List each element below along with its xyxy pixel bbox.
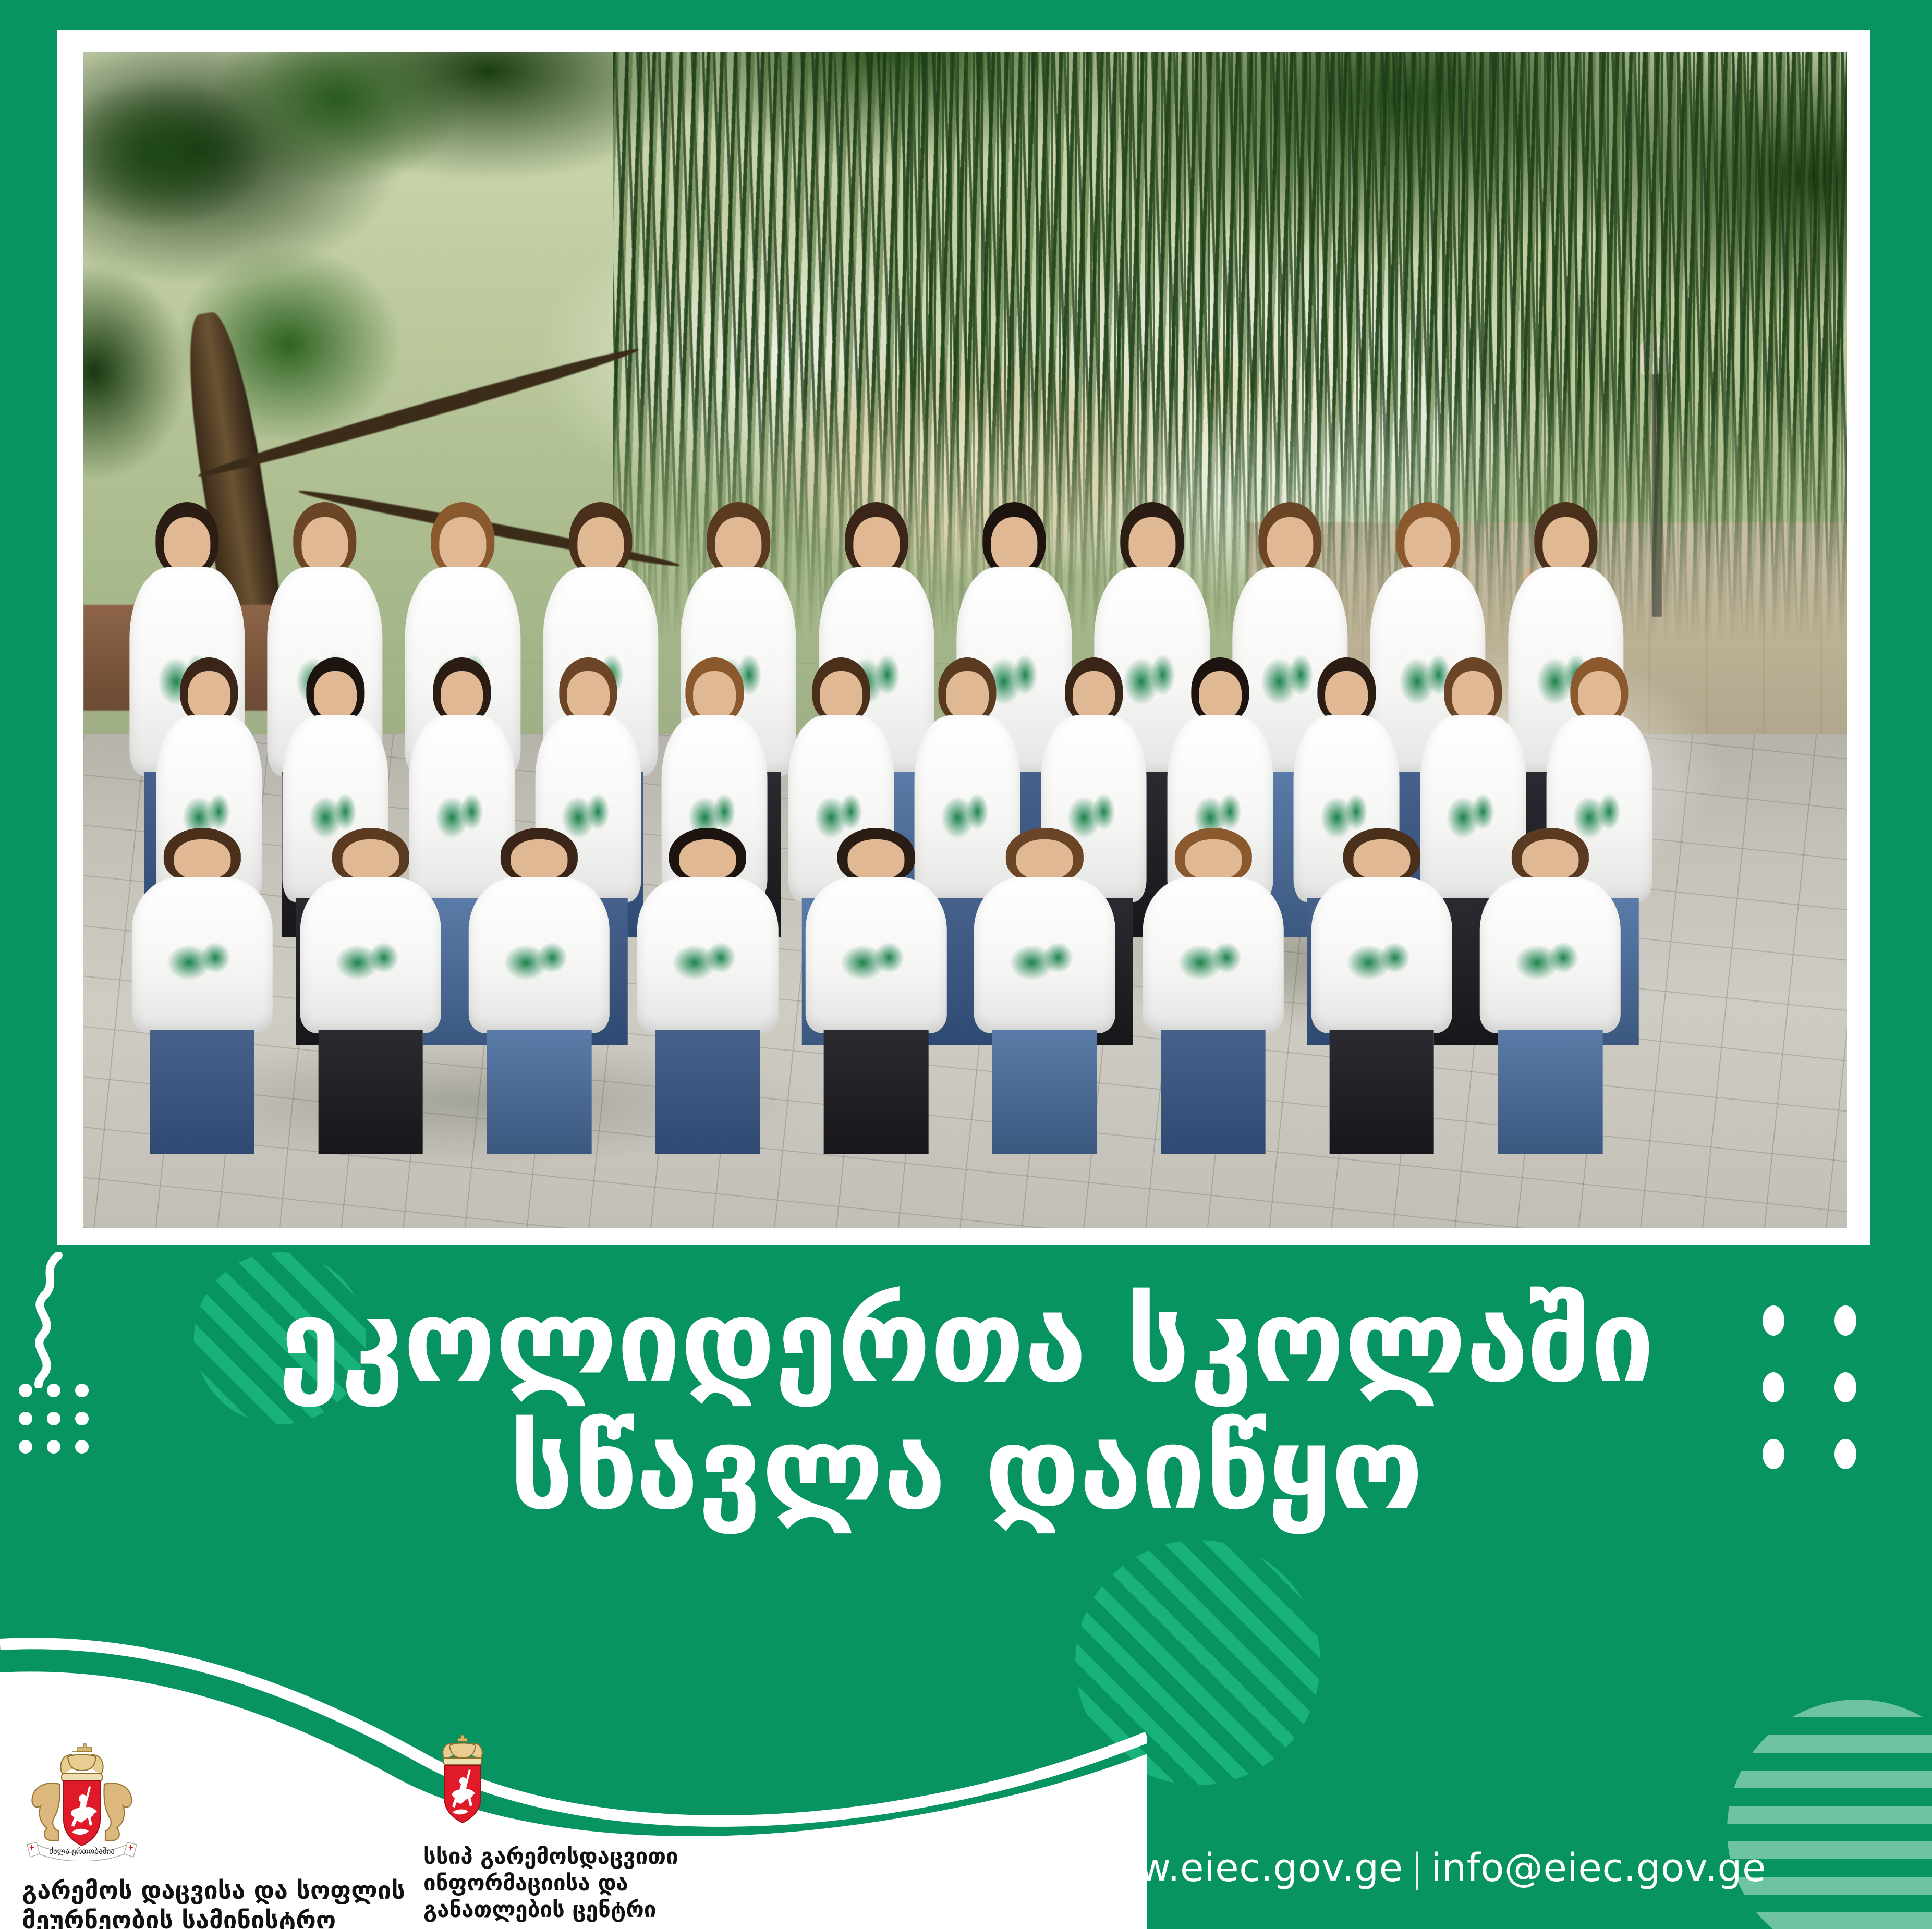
photo-student-head: [694, 671, 736, 719]
photo-student-head: [1073, 671, 1115, 719]
photo-student-head: [441, 671, 483, 719]
photo-frame: [57, 30, 1870, 1245]
photo-student-head: [1129, 517, 1175, 571]
photo-student-head: [1199, 671, 1242, 719]
svg-text:ძალა ერთობაშია: ძალა ერთობაშია: [49, 1847, 115, 1856]
photo-student-legs: [150, 1030, 254, 1154]
photo-student-legs: [655, 1030, 760, 1154]
photo-student-legs: [487, 1030, 592, 1154]
photo-student-tshirt: [1480, 877, 1621, 1033]
email-link[interactable]: info@eiec.gov.ge: [1431, 1846, 1766, 1890]
photo-tshirt-logo: [1341, 930, 1423, 993]
photo-tshirt-logo: [330, 930, 411, 993]
photo-student-head: [848, 839, 905, 880]
photo-student-head: [314, 671, 357, 719]
center-caption: სსიპ გარემოსდაცვითი ინფორმაციისა და განა…: [423, 1843, 678, 1923]
photo-student-tshirt: [300, 877, 441, 1033]
photo-student-head: [511, 839, 567, 880]
photo-student-head: [946, 671, 989, 719]
photo-student-head: [188, 671, 230, 719]
photo-tshirt-logo: [1172, 930, 1254, 993]
photo-tshirt-logo: [835, 930, 917, 993]
title-line-1: ეკოლიდერთა სკოლაში: [0, 1278, 1932, 1406]
photo-student-head: [1353, 839, 1410, 880]
photo-tshirt-logo: [161, 930, 243, 993]
photo-student-head: [1522, 839, 1578, 880]
title-line-2: სწავლა დაიწყო: [0, 1406, 1932, 1533]
website-link[interactable]: www.eiec.gov.ge: [1076, 1846, 1403, 1890]
photo-student-head: [679, 839, 736, 880]
photo-student-legs: [1329, 1030, 1434, 1154]
ministry-logo-block: ძალა ერთობაშია გარემოს დაცვისა და სოფლის…: [22, 1736, 405, 1929]
photo-student-head: [1267, 517, 1313, 571]
group-photo: [83, 52, 1847, 1228]
photo-student-legs: [1161, 1030, 1266, 1154]
photo-student-head: [174, 839, 230, 880]
photo-student-head: [577, 517, 624, 571]
photo-student-head: [853, 517, 900, 571]
photo-student-head: [1325, 671, 1368, 719]
photo-student-tshirt: [469, 877, 610, 1033]
photo-student-tshirt: [1311, 877, 1452, 1033]
georgia-greater-coat-of-arms-icon: ძალა ერთობაშია: [22, 1736, 142, 1861]
contact-separator: |: [1403, 1846, 1431, 1890]
photo-student: [1437, 828, 1664, 1154]
photo-student-head: [567, 671, 610, 719]
photo-student-head: [1016, 839, 1073, 880]
photo-student-head: [820, 671, 862, 719]
photo-student-legs: [318, 1030, 423, 1154]
photo-student-legs: [992, 1030, 1097, 1154]
photo-student-head: [1452, 671, 1494, 719]
photo-tshirt-logo: [1004, 930, 1086, 993]
photo-student-legs: [824, 1030, 929, 1154]
photo-student-head: [1542, 517, 1589, 571]
georgia-lesser-coat-of-arms-icon: [423, 1730, 502, 1832]
photo-tshirt-logo: [498, 930, 580, 993]
footer: ძალა ერთობაშია გარემოს დაცვისა და სოფლის…: [0, 1705, 1932, 1929]
contact-line: www.eiec.gov.ge|info@eiec.gov.ge: [1076, 1846, 1766, 1890]
photo-student-head: [301, 517, 348, 571]
poster-root: ეკოლიდერთა სკოლაში სწავლა დაიწყო: [0, 0, 1932, 1929]
photo-student-tshirt: [806, 877, 946, 1033]
photo-tshirt-logo: [667, 930, 749, 993]
photo-student-head: [1185, 839, 1242, 880]
photo-student-legs: [1498, 1030, 1603, 1154]
photo-student-head: [991, 517, 1037, 571]
photo-student-tshirt: [1143, 877, 1283, 1033]
photo-student-head: [1578, 671, 1621, 719]
title-band: ეკოლიდერთა სკოლაში სწავლა დაიწყო: [0, 1245, 1932, 1929]
page-title: ეკოლიდერთა სკოლაში სწავლა დაიწყო: [0, 1278, 1932, 1533]
photo-student-group: [119, 393, 1636, 1169]
center-logo-block: სსიპ გარემოსდაცვითი ინფორმაციისა და განა…: [423, 1730, 678, 1923]
photo-student-tshirt: [974, 877, 1115, 1033]
photo-student-head: [715, 517, 762, 571]
photo-student-head: [1405, 517, 1451, 571]
photo-student-head: [164, 517, 210, 571]
photo-tshirt-logo: [1509, 930, 1591, 993]
photo-student-head: [440, 517, 486, 571]
photo-student-tshirt: [637, 877, 778, 1033]
photo-student-head: [342, 839, 399, 880]
photo-student-tshirt: [131, 877, 272, 1033]
ministry-caption: გარემოს დაცვისა და სოფლის მეურნეობის სამ…: [22, 1876, 405, 1929]
